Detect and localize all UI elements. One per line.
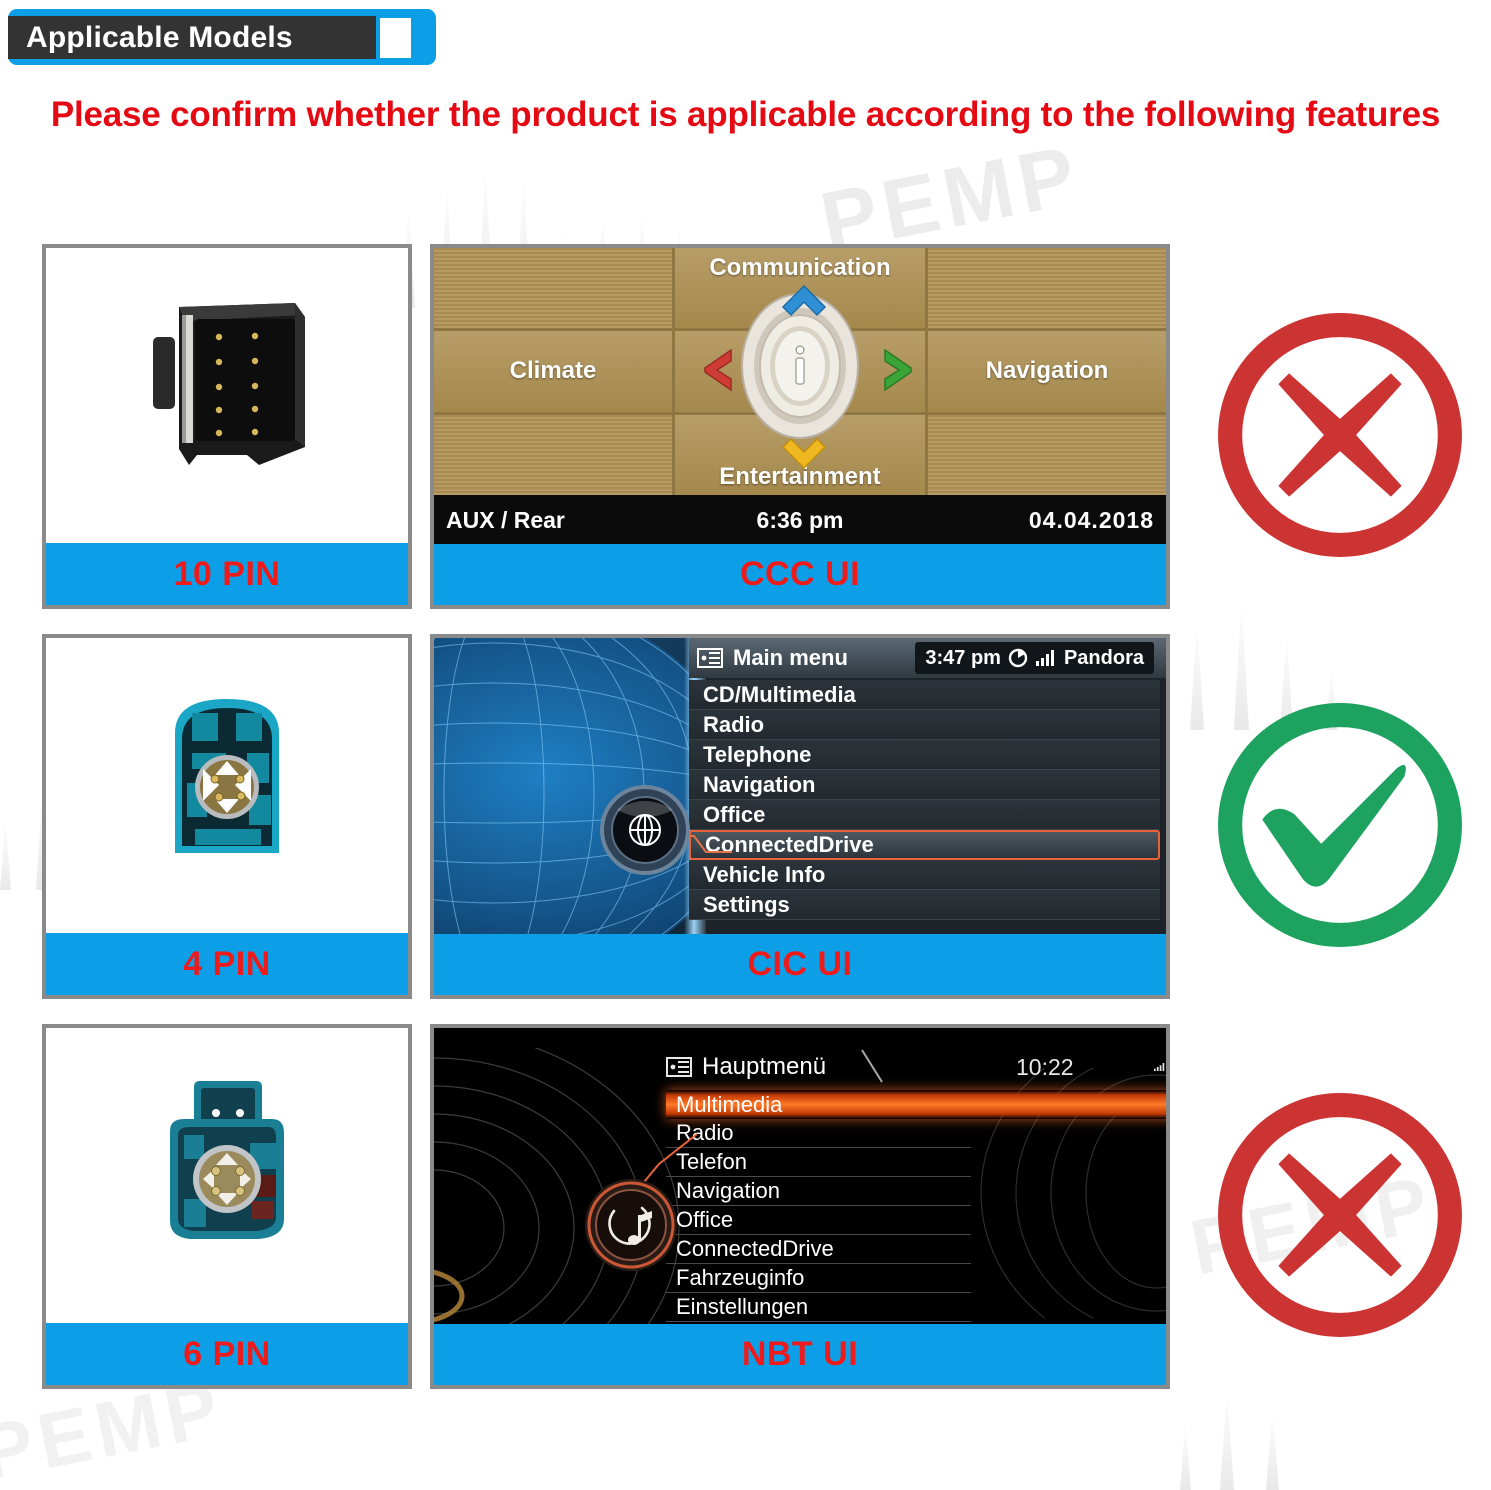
ccc-label-communication: Communication [709,254,890,282]
applicable-models-page: PEMP PEMP PEMP PEMP [0,0,1491,1490]
page-subtitle: Please confirm whether the product is ap… [0,95,1491,135]
cic-source: Pandora [1064,647,1144,670]
connector-label-bar: 4 PIN [46,933,408,995]
screen-label-bar: CCC UI [434,544,1166,605]
ccc-tile-climate[interactable]: Climate [434,331,672,411]
cross-circle-icon [1206,301,1474,569]
cic-menu-label: CD/Multimedia [703,682,856,708]
status-cross-1 [1195,240,1485,630]
nbt-ui-screenshot: Hauptmenü 10:22 87.5 MHz [434,1028,1166,1325]
cic-menu-item-telephone[interactable]: Telephone [689,740,1160,770]
connector-photo [46,1028,408,1324]
connector-6pin-drawing [132,1071,322,1281]
ccc-tile-blank [928,415,1166,495]
connector-label-bar: 6 PIN [46,1323,408,1385]
nbt-title-bar: Hauptmenü 10:22 87.5 MHz [666,1048,1166,1086]
nbt-menu-item-einstellungen[interactable]: Einstellungen [666,1293,971,1322]
cross-circle-icon [1206,1081,1474,1349]
cic-menu-item-connecteddrive[interactable]: ConnectedDrive [689,830,1160,860]
connector-label: 6 PIN [183,1335,271,1374]
model-row: 6 PIN [0,1020,1491,1410]
cic-menu-item-settings[interactable]: Settings [689,890,1160,920]
cic-menu-item-navigation[interactable]: Navigation [689,770,1160,800]
ccc-status-bar: AUX / Rear 6:36 pm 04.04.2018 [434,495,1166,545]
ccc-status-time: 6:36 pm [757,507,844,534]
ccc-status-date: 04.04.2018 [1029,507,1154,534]
menu-list-icon [666,1056,692,1078]
cic-screen: Main menu 3:47 pm [434,638,1166,935]
cic-title: Main menu [733,645,848,671]
ccc-status-source: AUX / Rear [434,507,565,534]
ccc-screen: Communication Climate Navigation [434,248,1166,545]
connector-label-bar: 10 PIN [46,543,408,605]
ccc-label-climate: Climate [510,357,597,385]
blue-up-arrow-icon [781,284,827,318]
cic-title-bar: Main menu 3:47 pm [689,638,1166,678]
screen-card-ccc[interactable]: Communication Climate Navigation [430,244,1170,609]
ccc-tile-navigation[interactable]: Navigation [928,331,1166,411]
connector-4pin-drawing [137,691,317,881]
red-left-arrow-icon [702,348,734,392]
cic-status-pill: 3:47 pm [915,642,1154,674]
nbt-menu-label: Fahrzeuginfo [676,1265,804,1291]
nbt-menu-label: ConnectedDrive [676,1236,834,1262]
ccc-tile-blank [434,415,672,495]
ccc-label-navigation: Navigation [986,357,1109,385]
menu-list-icon [697,647,723,669]
cic-menu-label: Telephone [703,742,811,768]
ccc-ui-screenshot: Communication Climate Navigation [434,248,1166,545]
cic-ui-screenshot: Main menu 3:47 pm [434,638,1166,935]
screen-label: CIC UI [748,945,853,984]
cic-menu-label: Office [703,802,765,828]
screen-label: CCC UI [740,555,860,594]
cic-menu-label: Radio [703,712,764,738]
nbt-menu-item-multimedia[interactable]: Multimedia [666,1090,1166,1119]
banner-title: Applicable Models [8,21,293,55]
connector-label: 10 PIN [174,555,281,594]
yellow-down-arrow-icon [781,436,827,470]
nbt-title: Hauptmenü [702,1053,826,1081]
cic-menu-list: CD/Multimedia Radio Telephone Navigation… [689,680,1160,920]
nbt-menu-item-office[interactable]: Office [666,1206,971,1235]
connector-photo [46,248,408,544]
banner-dark-plate: Applicable Models [8,16,376,59]
nbt-menu-label: Office [676,1207,733,1233]
cic-menu-label: Vehicle Info [703,862,825,888]
cic-menu-item-cd-multimedia[interactable]: CD/Multimedia [689,680,1160,710]
screen-label: NBT UI [742,1335,858,1374]
signal-bars-icon [1035,649,1057,667]
model-row: 10 PIN Communication Climate [0,240,1491,630]
connector-4pin-icon [46,638,408,934]
banner-white-notch [380,18,411,58]
status-cross-3 [1195,1020,1485,1410]
green-right-arrow-icon [882,348,914,392]
screen-label-bar: CIC UI [434,934,1166,995]
screen-card-cic[interactable]: Main menu 3:47 pm [430,634,1170,999]
ccc-tile-blank [928,248,1166,328]
check-circle-icon [1206,691,1474,959]
connector-6pin-icon [46,1028,408,1324]
applicable-models-banner: Applicable Models [8,9,436,65]
connector-10pin-drawing [127,289,327,504]
nbt-menu-item-telefon[interactable]: Telefon [666,1148,971,1177]
media-note-knob-icon[interactable] [584,1178,678,1272]
models-grid: 10 PIN Communication Climate [0,240,1491,1410]
cic-menu-label: Navigation [703,772,815,798]
nbt-topbar-divider [858,1048,888,1088]
cic-menu-item-radio[interactable]: Radio [689,710,1160,740]
nbt-menu-label: Einstellungen [676,1294,808,1320]
connector-card-6pin[interactable]: 6 PIN [42,1024,412,1389]
nbt-menu-item-radio[interactable]: Radio [666,1119,971,1148]
screen-card-nbt[interactable]: Hauptmenü 10:22 87.5 MHz [430,1024,1170,1389]
connector-10pin-icon [46,248,408,544]
screen-label-bar: NBT UI [434,1324,1166,1385]
model-row: 4 PIN [0,630,1491,1020]
nbt-time: 10:22 [1016,1054,1074,1081]
connector-card-10pin[interactable]: 10 PIN [42,244,412,609]
nbt-screen: Hauptmenü 10:22 87.5 MHz [434,1028,1166,1325]
pandora-logo-icon [1008,648,1028,668]
ccc-tile-blank [434,248,672,328]
cic-menu-item-vehicle-info[interactable]: Vehicle Info [689,860,1160,890]
nbt-menu-item-connecteddrive[interactable]: ConnectedDrive [666,1235,971,1264]
cic-menu-item-office[interactable]: Office [689,800,1160,830]
cic-time: 3:47 pm [925,647,1001,670]
nbt-frequency-group: 87.5 MHz [1154,1041,1166,1093]
connector-photo [46,638,408,934]
connector-label: 4 PIN [183,945,271,984]
bmw-globe-knob-icon[interactable] [599,784,691,876]
cic-menu-label: Settings [703,892,790,918]
nbt-menu-item-navigation[interactable]: Navigation [666,1177,971,1206]
signal-bars-icon [1154,1059,1165,1075]
status-check-2 [1195,630,1485,1020]
nbt-menu-list: Multimedia Radio Telefon Navigation Offi… [666,1090,971,1322]
nbt-menu-item-fahrzeuginfo[interactable]: Fahrzeuginfo [666,1264,971,1293]
nbt-menu-label: Multimedia [676,1092,782,1118]
connector-card-4pin[interactable]: 4 PIN [42,634,412,999]
